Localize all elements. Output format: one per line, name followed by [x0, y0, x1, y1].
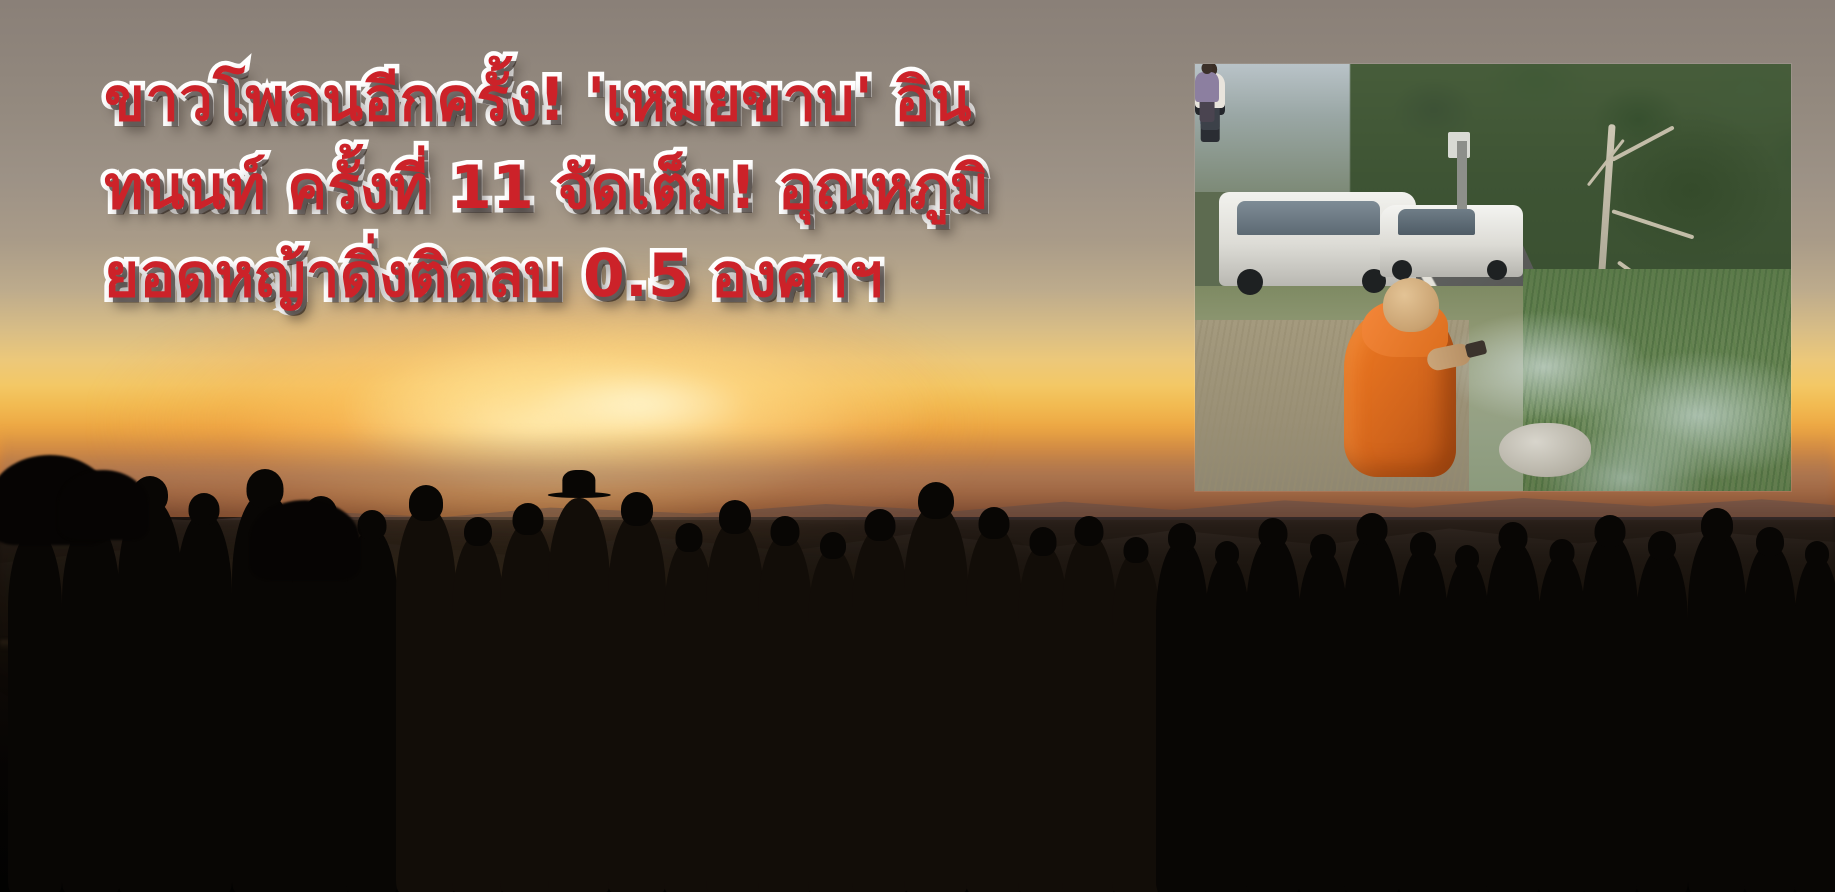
crowd-person-head [918, 482, 954, 520]
crowd-person-head [1075, 516, 1104, 546]
crowd-person-head [1124, 537, 1149, 563]
crowd-person-head [1701, 508, 1733, 542]
crowd-person-head [189, 493, 220, 526]
crowd-person [1636, 548, 1688, 892]
crowd-person [1444, 560, 1490, 892]
crowd-person [904, 504, 968, 892]
crowd-person-head [1310, 534, 1336, 561]
inset-stone [1499, 423, 1591, 477]
crowd-person [1112, 552, 1160, 892]
crowd-person-head [1215, 541, 1239, 566]
inset-tourist-body [1195, 72, 1219, 102]
inset-van-window [1237, 201, 1380, 235]
crowd-person [1744, 544, 1796, 892]
crowd-person-hat [562, 470, 595, 495]
crowd-person [1794, 556, 1835, 892]
inset-monk-head [1383, 278, 1439, 332]
inset-tourist [1195, 64, 1219, 122]
crowd-person-head [247, 469, 284, 508]
crowd-person [1344, 532, 1400, 892]
crowd-person [8, 530, 62, 892]
crowd-person [1298, 550, 1348, 892]
crowd-person-head [865, 509, 896, 542]
crowd-person [118, 498, 182, 892]
crowd-person [608, 512, 666, 892]
crowd-person [852, 528, 908, 892]
crowd-person [758, 534, 812, 892]
crowd-person [1204, 556, 1250, 892]
crowd-person [548, 498, 610, 892]
crowd-person [62, 520, 120, 892]
crowd-person-head [1805, 541, 1829, 566]
headline-line-1: ขาวโพลนอีกครั้ง! 'เหมยขาบ' อิน [104, 56, 1064, 144]
crowd-person-head [1499, 522, 1528, 552]
news-banner-image: ขาวโพลนอีกครั้ง! 'เหมยขาบ' อิน ทนนท์ ครั… [0, 0, 1835, 892]
crowd-person [452, 534, 504, 892]
crowd-person [1246, 536, 1300, 892]
crowd-person [1156, 540, 1208, 892]
crowd-person-head [409, 485, 443, 521]
crowd-person [706, 520, 764, 892]
crowd-person-head [1756, 527, 1784, 556]
headline-line-3: ยอดหญ้าดิ่งติดลบ 0.5 องศาฯ [104, 232, 1064, 320]
crowd-person-head [1550, 539, 1575, 565]
crowd-person [1398, 548, 1448, 892]
crowd-person-head [1648, 531, 1676, 560]
crowd-person [396, 506, 456, 892]
crowd-person-head [1030, 527, 1057, 555]
crowd-person-head [820, 532, 846, 559]
bush [58, 470, 148, 540]
crowd-person [1018, 544, 1068, 892]
crowd-person-head [1595, 515, 1626, 548]
inset-sign-post [1457, 141, 1467, 209]
crowd-person [966, 526, 1022, 892]
crowd-person-head [1259, 518, 1288, 548]
crowd-person [346, 528, 398, 892]
crowd-person-head [1455, 545, 1479, 570]
crowd-person-head [771, 516, 800, 546]
inset-photo-monk-on-frosted-grass [1195, 64, 1791, 491]
crowd-person [176, 512, 232, 892]
crowd-person-head [621, 492, 653, 526]
crowd-person [1582, 534, 1638, 892]
crowd-person [1486, 540, 1540, 892]
crowd-person-head [1410, 532, 1436, 559]
inset-frost-patch [1433, 278, 1791, 492]
crowd-person [1688, 528, 1746, 892]
crowd-person-head [719, 500, 751, 534]
crowd-person-head [358, 510, 387, 540]
crowd-person [1062, 534, 1116, 892]
crowd-person [1538, 554, 1586, 892]
crowd-person [808, 548, 858, 892]
headline-line-2: ทนนท์ ครั้งที่ 11 จัดเต็ม! อุณหภูมิ [104, 144, 1064, 232]
crowd-person-head [464, 517, 492, 546]
headline-text: ขาวโพลนอีกครั้ง! 'เหมยขาบ' อิน ทนนท์ ครั… [104, 56, 1064, 320]
inset-car-window [1398, 209, 1475, 235]
inset-wheel [1237, 269, 1263, 295]
crowd-person-head [676, 523, 703, 551]
crowd-person-head [513, 503, 544, 536]
crowd-person-head [1168, 523, 1196, 552]
crowd-person-head [1357, 513, 1388, 546]
crowd-person-head [979, 507, 1010, 540]
bush [250, 500, 360, 580]
